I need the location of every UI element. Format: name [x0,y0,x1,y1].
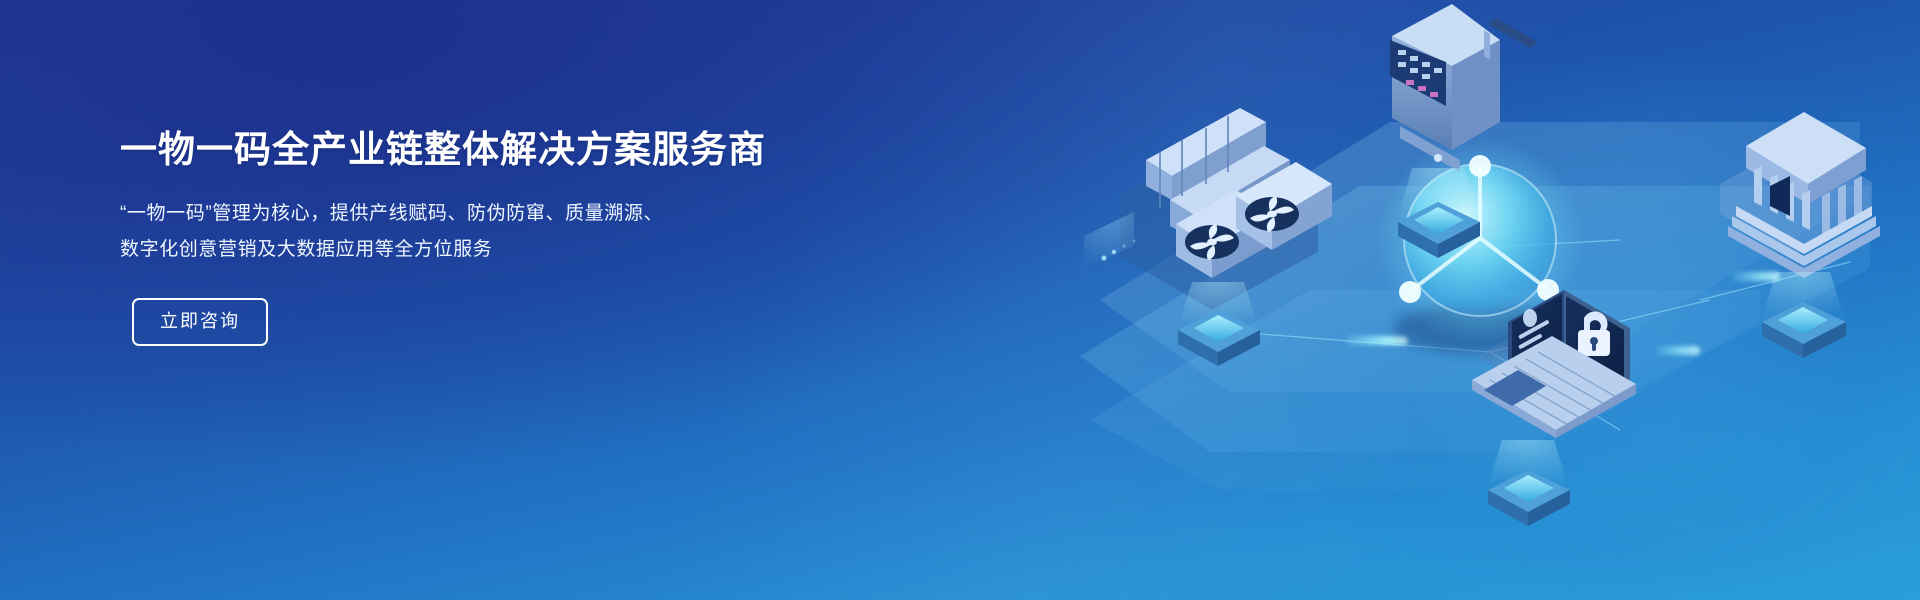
subtitle-line-2: 数字化创意营销及大数据应用等全方位服务 [120,232,840,268]
cta-row: 立即咨询 [120,298,840,346]
consult-now-button[interactable]: 立即咨询 [132,298,268,346]
pedestal-bank [1762,272,1846,358]
hero-banner: 一物一码全产业链整体解决方案服务商 “一物一码”管理为核心，提供产线赋码、防伪防… [0,0,1920,600]
subtitle-line-1: “一物一码”管理为核心，提供产线赋码、防伪防窜、质量溯源、 [120,196,840,232]
hero-subtitle: “一物一码”管理为核心，提供产线赋码、防伪防窜、质量溯源、 数字化创意营销及大数… [120,196,840,268]
pedestal-laptop [1488,440,1570,526]
hero-copy: 一物一码全产业链整体解决方案服务商 “一物一码”管理为核心，提供产线赋码、防伪防… [120,128,840,346]
hero-illustration [1060,0,1920,600]
page-title: 一物一码全产业链整体解决方案服务商 [120,128,840,172]
